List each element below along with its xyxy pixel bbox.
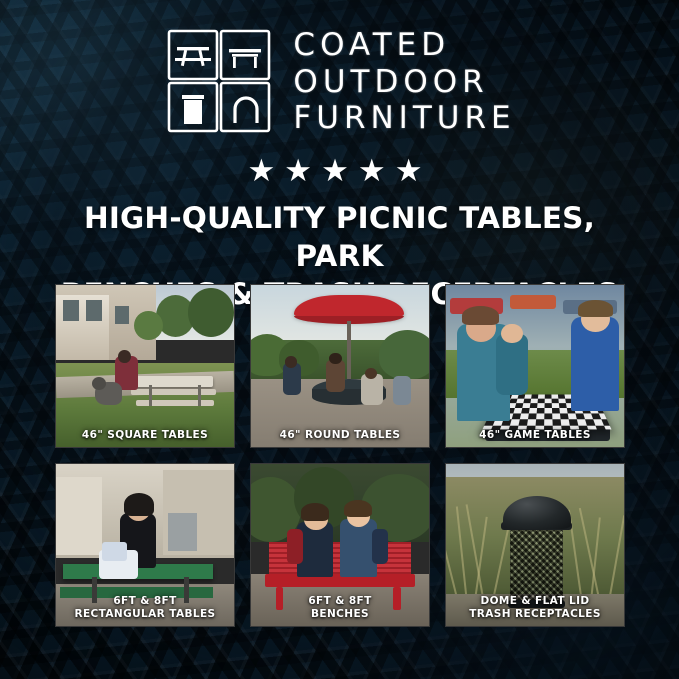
- caption-game-tables: 46" GAME TABLES: [446, 424, 624, 447]
- headline-line-1: HIGH-QUALITY PICNIC TABLES, PARK: [36, 200, 643, 276]
- grid-item-game-tables[interactable]: 46" GAME TABLES: [445, 284, 625, 448]
- grid-item-trash-receptacles[interactable]: DOME & FLAT LID TRASH RECEPTACLES: [445, 463, 625, 627]
- grid-item-round-tables[interactable]: 46" ROUND TABLES: [250, 284, 430, 448]
- star-icon-3: ★: [321, 155, 358, 186]
- star-rating: ★★★★★: [0, 155, 679, 186]
- caption-rectangular-tables-line-2: RECTANGULAR TABLES: [59, 608, 231, 620]
- brand-name-line-2: OUTDOOR: [293, 66, 515, 99]
- brand-logo: COATED OUTDOOR FURNITURE: [0, 24, 679, 140]
- brand-name-line-3: FURNITURE: [293, 102, 515, 135]
- star-icon-4: ★: [358, 155, 395, 186]
- caption-benches-line-2: BENCHES: [254, 608, 426, 620]
- caption-trash-receptacles-line-1: DOME & FLAT LID: [449, 595, 621, 607]
- caption-round-tables: 46" ROUND TABLES: [251, 424, 429, 447]
- caption-benches-line-1: 6FT & 8FT: [254, 595, 426, 607]
- caption-rectangular-tables-line-1: 6FT & 8FT: [59, 595, 231, 607]
- star-icon-2: ★: [284, 155, 321, 186]
- brand-wordmark: COATED OUTDOOR FURNITURE: [293, 29, 515, 136]
- product-banner: COATED OUTDOOR FURNITURE ★★★★★ HIGH-QUAL…: [0, 0, 679, 679]
- caption-benches: 6FT & 8FT BENCHES: [251, 590, 429, 626]
- grid-item-square-tables[interactable]: 46" SQUARE TABLES: [55, 284, 235, 448]
- caption-rectangular-tables: 6FT & 8FT RECTANGULAR TABLES: [56, 590, 234, 626]
- picnic-table-bench-trash-can-grid-icon: [163, 27, 275, 137]
- grid-item-benches[interactable]: 6FT & 8FT BENCHES: [250, 463, 430, 627]
- caption-trash-receptacles-line-2: TRASH RECEPTACLES: [449, 608, 621, 620]
- star-icon-1: ★: [248, 155, 285, 186]
- caption-trash-receptacles: DOME & FLAT LID TRASH RECEPTACLES: [446, 590, 624, 626]
- product-category-grid: 46" SQUARE TABLES: [55, 284, 625, 627]
- grid-item-rectangular-tables[interactable]: 6FT & 8FT RECTANGULAR TABLES: [55, 463, 235, 627]
- banner-content: COATED OUTDOOR FURNITURE ★★★★★ HIGH-QUAL…: [0, 0, 679, 679]
- caption-square-tables: 46" SQUARE TABLES: [56, 424, 234, 447]
- star-icon-5: ★: [395, 155, 432, 186]
- brand-name-line-1: COATED: [293, 29, 515, 62]
